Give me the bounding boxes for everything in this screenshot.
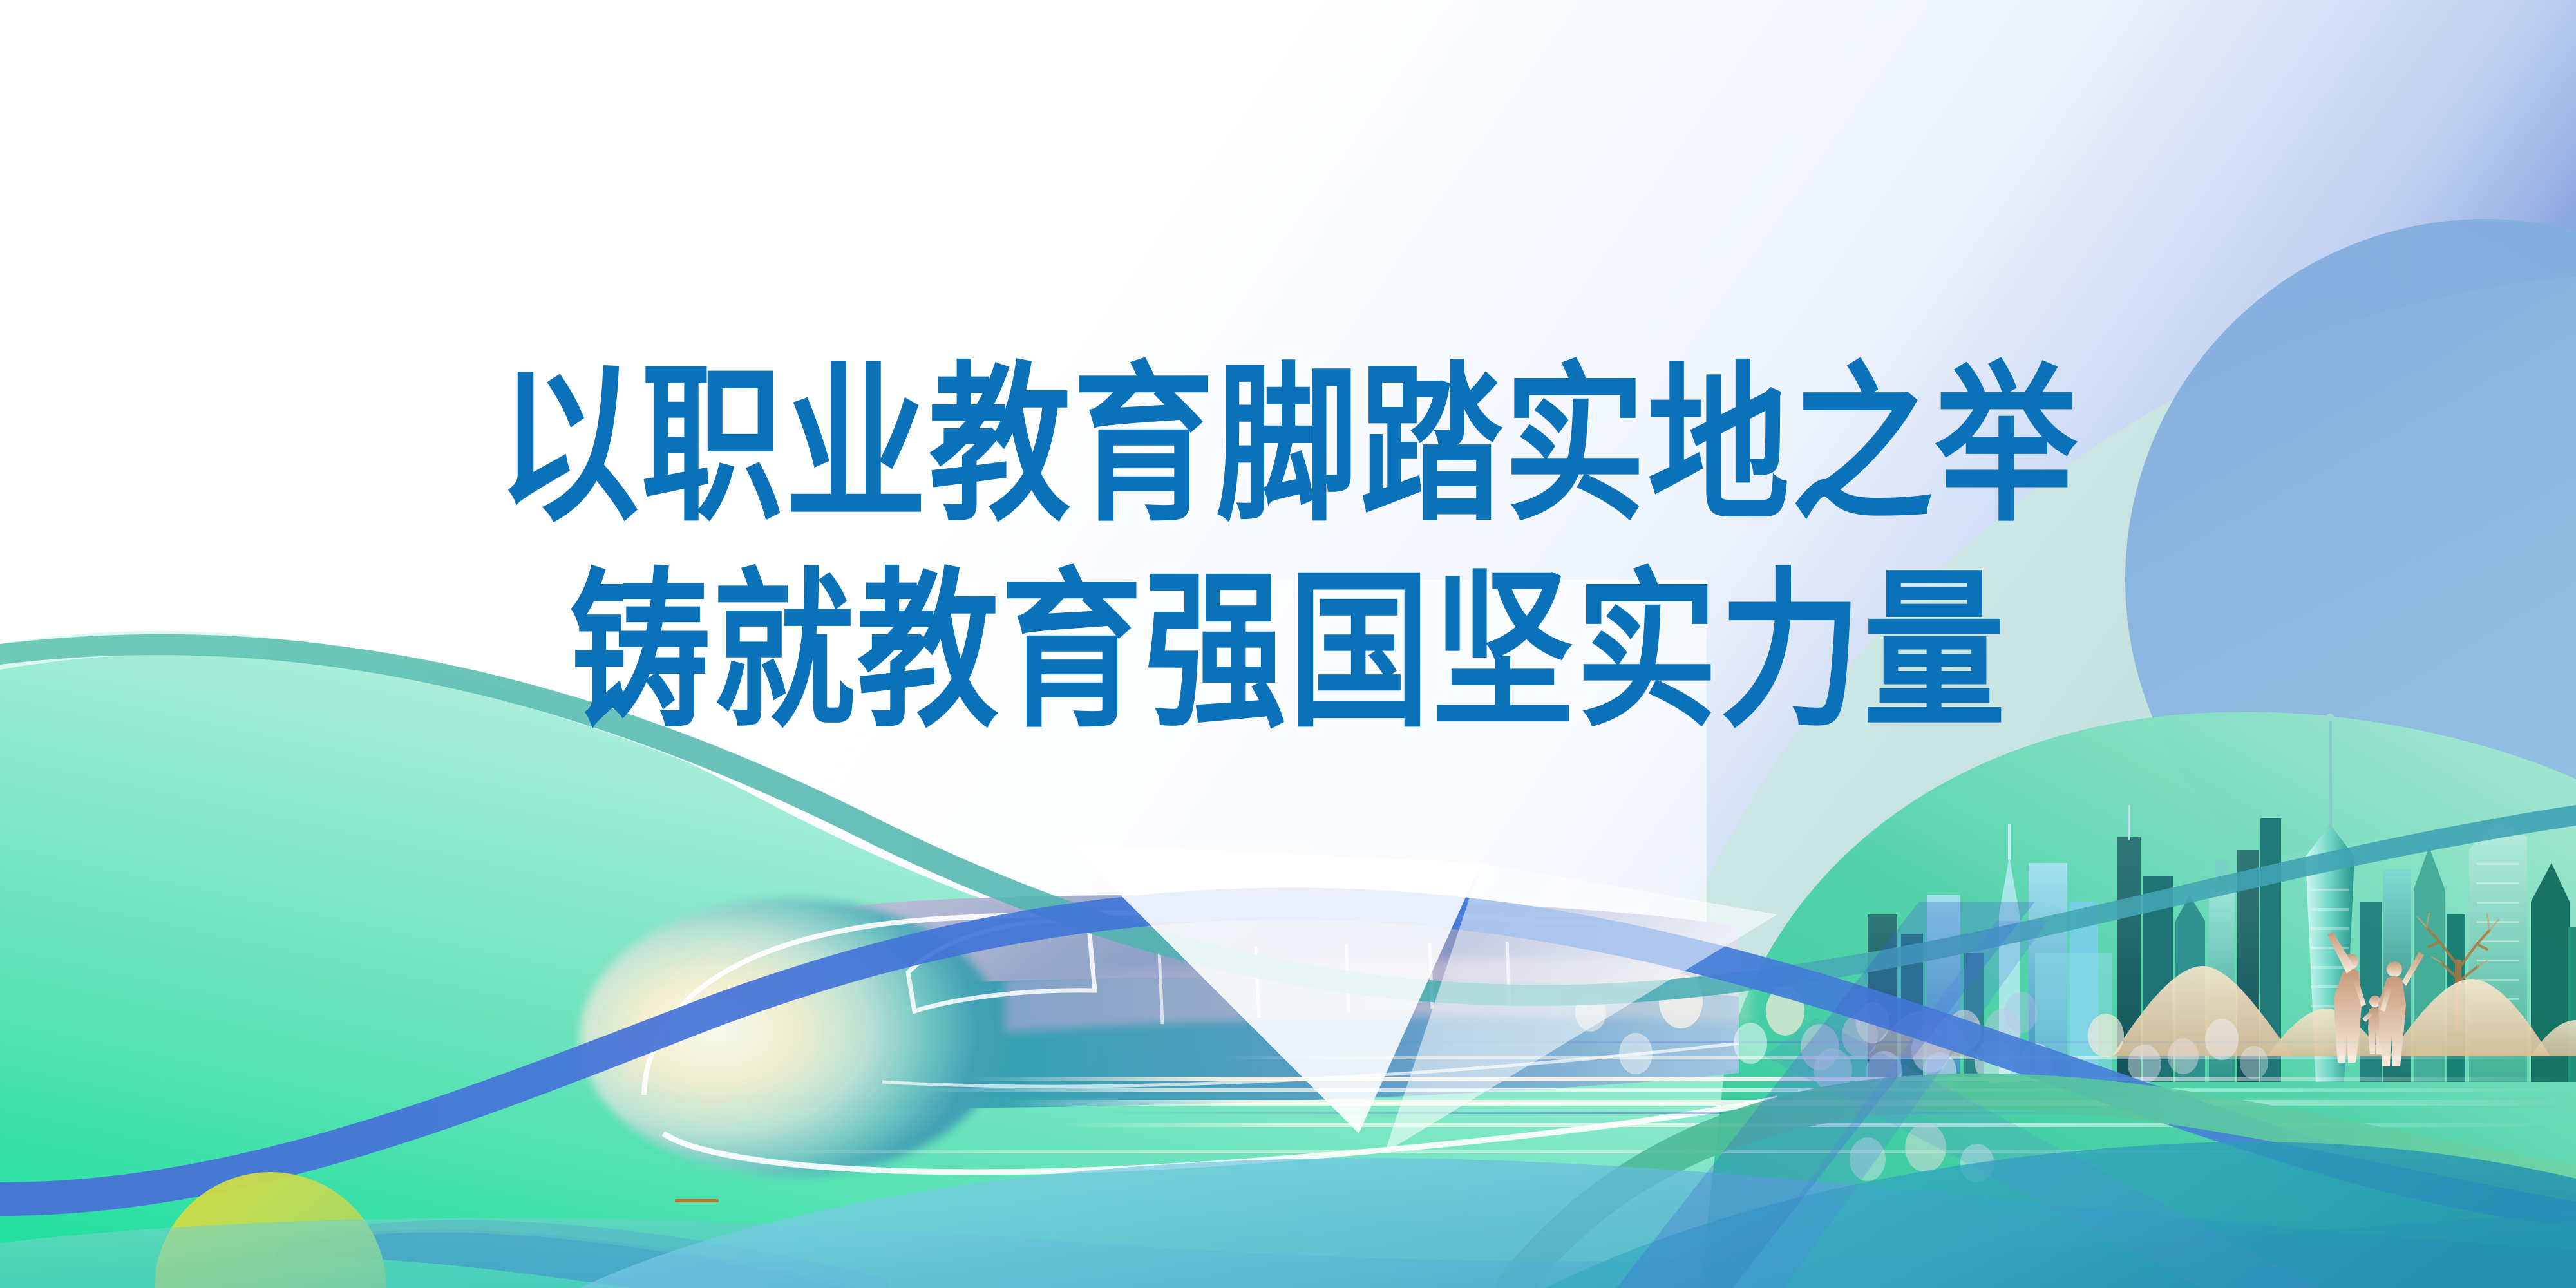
wave-ribbons [0,0,2576,1288]
poster-canvas: 以职业教育脚踏实地之举 铸就教育强国坚实力量 [0,0,2576,1288]
